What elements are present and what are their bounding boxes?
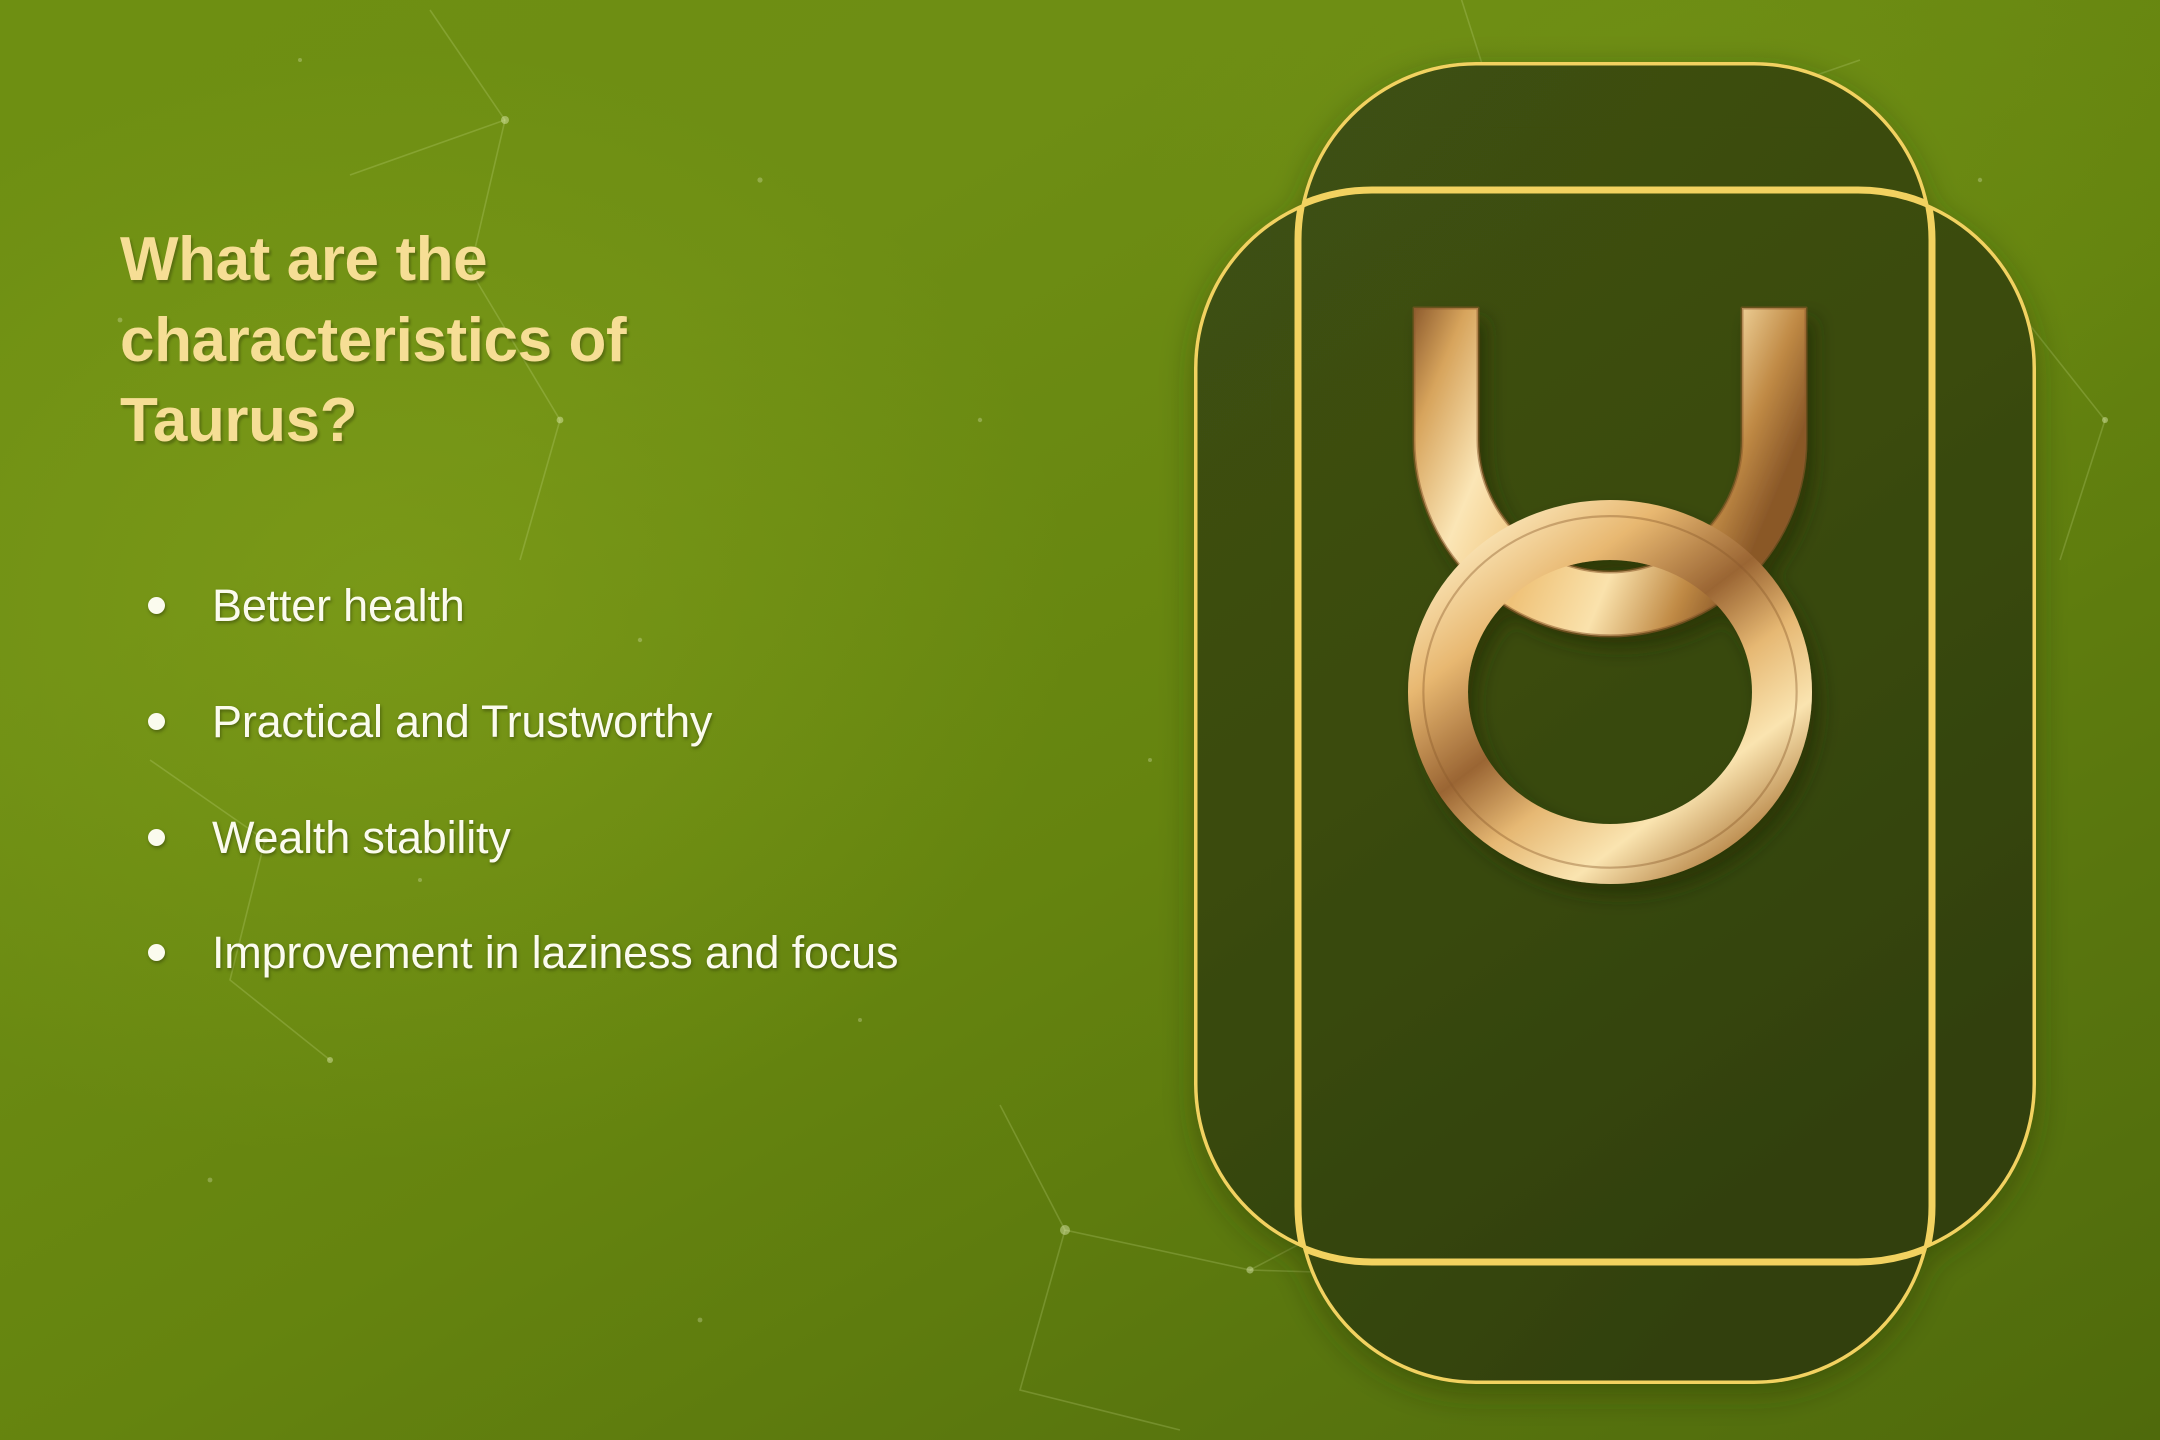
bullet-icon <box>148 597 165 614</box>
text-column: What are the characteristics of Taurus? … <box>120 220 1020 985</box>
list-item: Wealth stability <box>120 806 1020 870</box>
zodiac-infographic-slide: What are the characteristics of Taurus? … <box>0 0 2160 1440</box>
bullet-icon <box>148 944 165 961</box>
list-item-label: Wealth stability <box>212 812 511 863</box>
list-item: Practical and Trustworthy <box>120 690 1020 754</box>
list-item: Better health <box>120 574 1020 638</box>
page-title: What are the characteristics of Taurus? <box>120 220 1020 462</box>
bullet-icon <box>148 829 165 846</box>
list-item-label: Practical and Trustworthy <box>212 696 712 747</box>
list-item-label: Improvement in laziness and focus <box>212 927 898 978</box>
taurus-symbol <box>1370 290 1850 890</box>
list-item: Improvement in laziness and focus <box>120 921 1020 985</box>
list-item-label: Better health <box>212 580 465 631</box>
bullet-icon <box>148 713 165 730</box>
traits-list: Better health Practical and Trustworthy … <box>120 574 1020 986</box>
